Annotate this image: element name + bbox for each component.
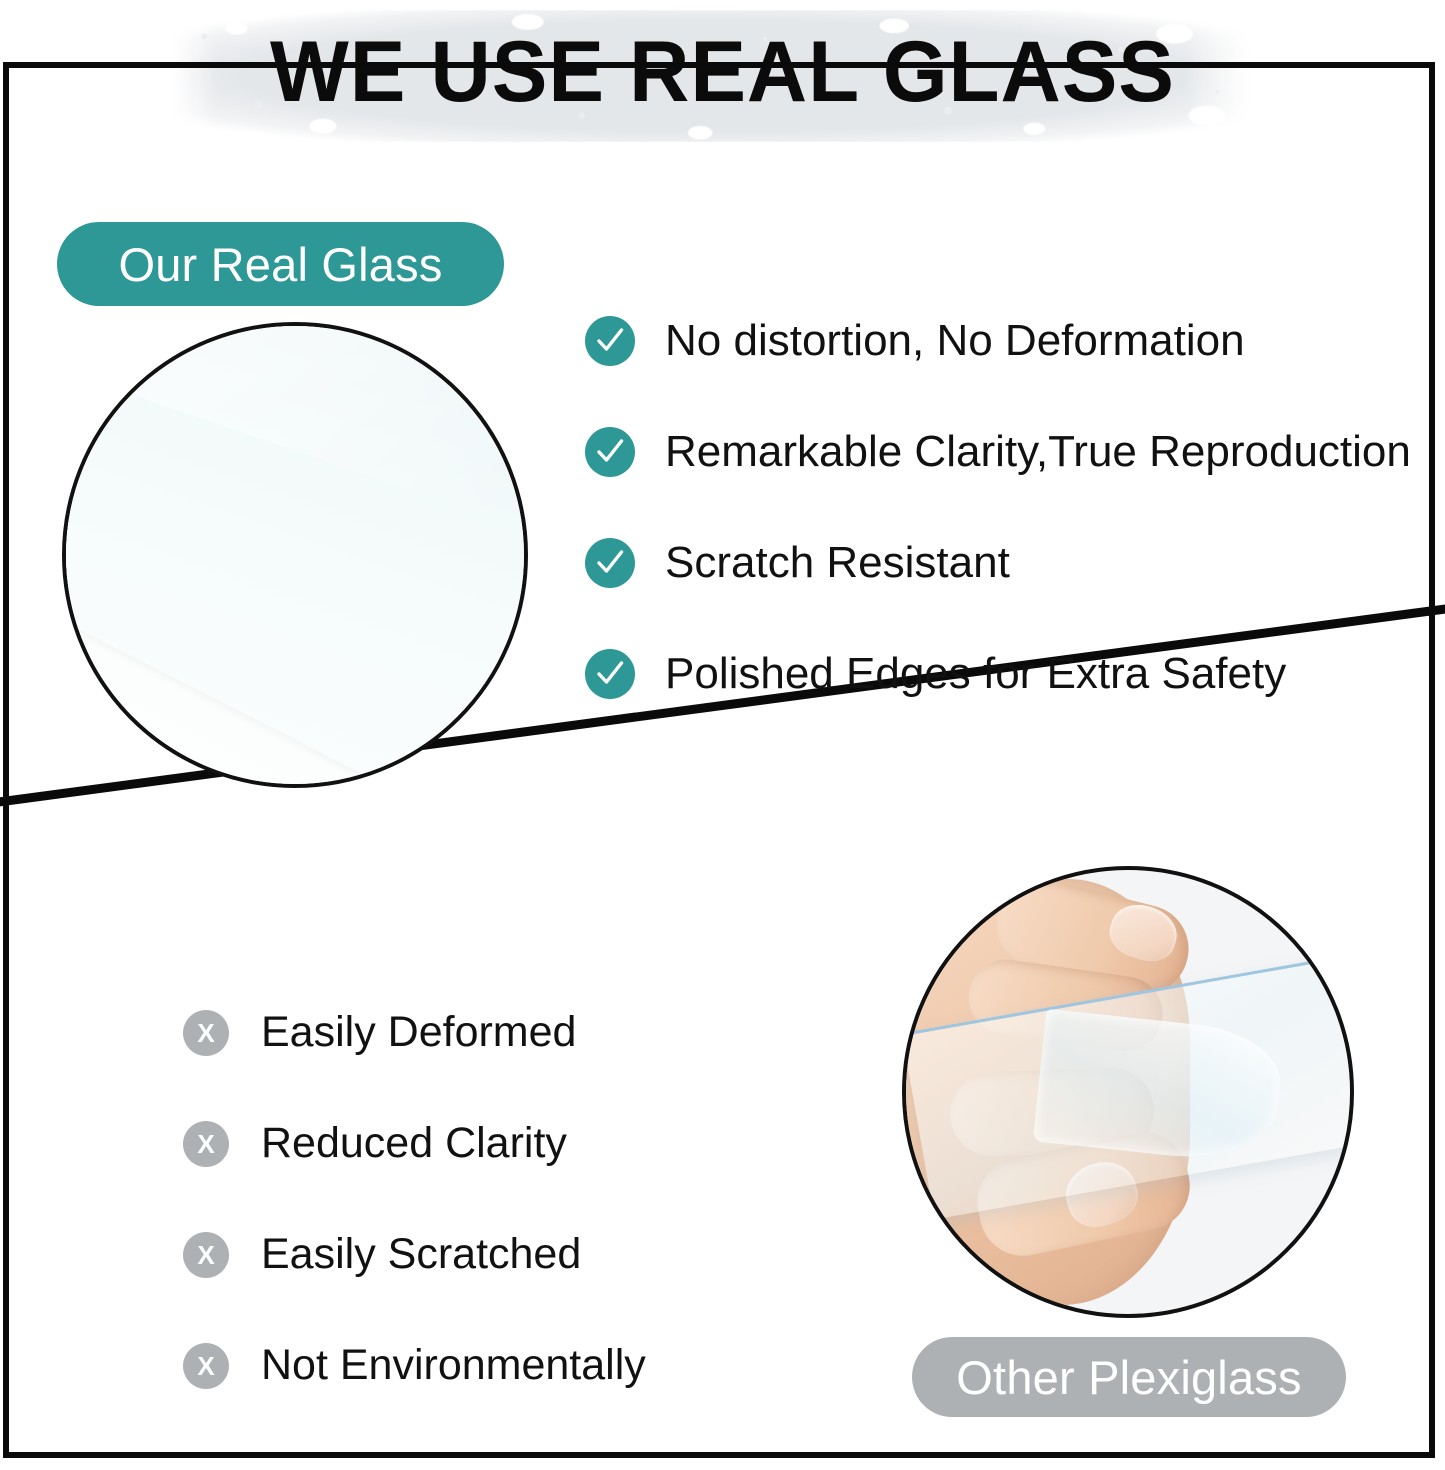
pros-item-label: No distortion, No Deformation [665, 319, 1245, 363]
list-item: X Not Environmentally [183, 1310, 883, 1421]
list-item: Scratch Resistant [585, 507, 1435, 618]
pros-item-label: Polished Edges for Extra Safety [665, 652, 1286, 696]
list-item: X Reduced Clarity [183, 1088, 883, 1199]
check-icon [585, 316, 635, 366]
list-item: X Easily Scratched [183, 1199, 883, 1310]
our-real-glass-badge: Our Real Glass [57, 222, 504, 306]
other-plexiglass-badge: Other Plexiglass [912, 1337, 1346, 1417]
list-item: X Easily Deformed [183, 977, 883, 1088]
pros-item-label: Scratch Resistant [665, 541, 1010, 585]
cons-item-label: Reduced Clarity [261, 1122, 567, 1165]
cons-item-label: Not Environmentally [261, 1344, 646, 1387]
pros-list: No distortion, No Deformation Remarkable… [585, 285, 1435, 729]
x-icon: X [183, 1232, 229, 1278]
glass-sheen [62, 322, 528, 549]
check-icon [585, 427, 635, 477]
other-plexiglass-badge-label: Other Plexiglass [956, 1350, 1301, 1405]
x-icon: X [183, 1010, 229, 1056]
cons-item-label: Easily Scratched [261, 1233, 581, 1276]
list-item: Polished Edges for Extra Safety [585, 618, 1435, 729]
pros-item-label: Remarkable Clarity,True Reproduction [665, 430, 1411, 474]
check-icon [585, 538, 635, 588]
list-item: No distortion, No Deformation [585, 285, 1435, 396]
page-title: WE USE REAL GLASS [22, 24, 1424, 120]
x-icon: X [183, 1343, 229, 1389]
x-icon: X [183, 1121, 229, 1167]
our-real-glass-badge-label: Our Real Glass [118, 237, 442, 292]
real-glass-photo [62, 322, 528, 788]
list-item: Remarkable Clarity,True Reproduction [585, 396, 1435, 507]
cons-item-label: Easily Deformed [261, 1011, 576, 1054]
check-icon [585, 649, 635, 699]
cons-list: X Easily Deformed X Reduced Clarity X Ea… [183, 977, 883, 1421]
infographic-root: WE USE REAL GLASS Our Real Glass No dist… [0, 0, 1445, 1470]
plexiglass-photo [902, 866, 1354, 1318]
